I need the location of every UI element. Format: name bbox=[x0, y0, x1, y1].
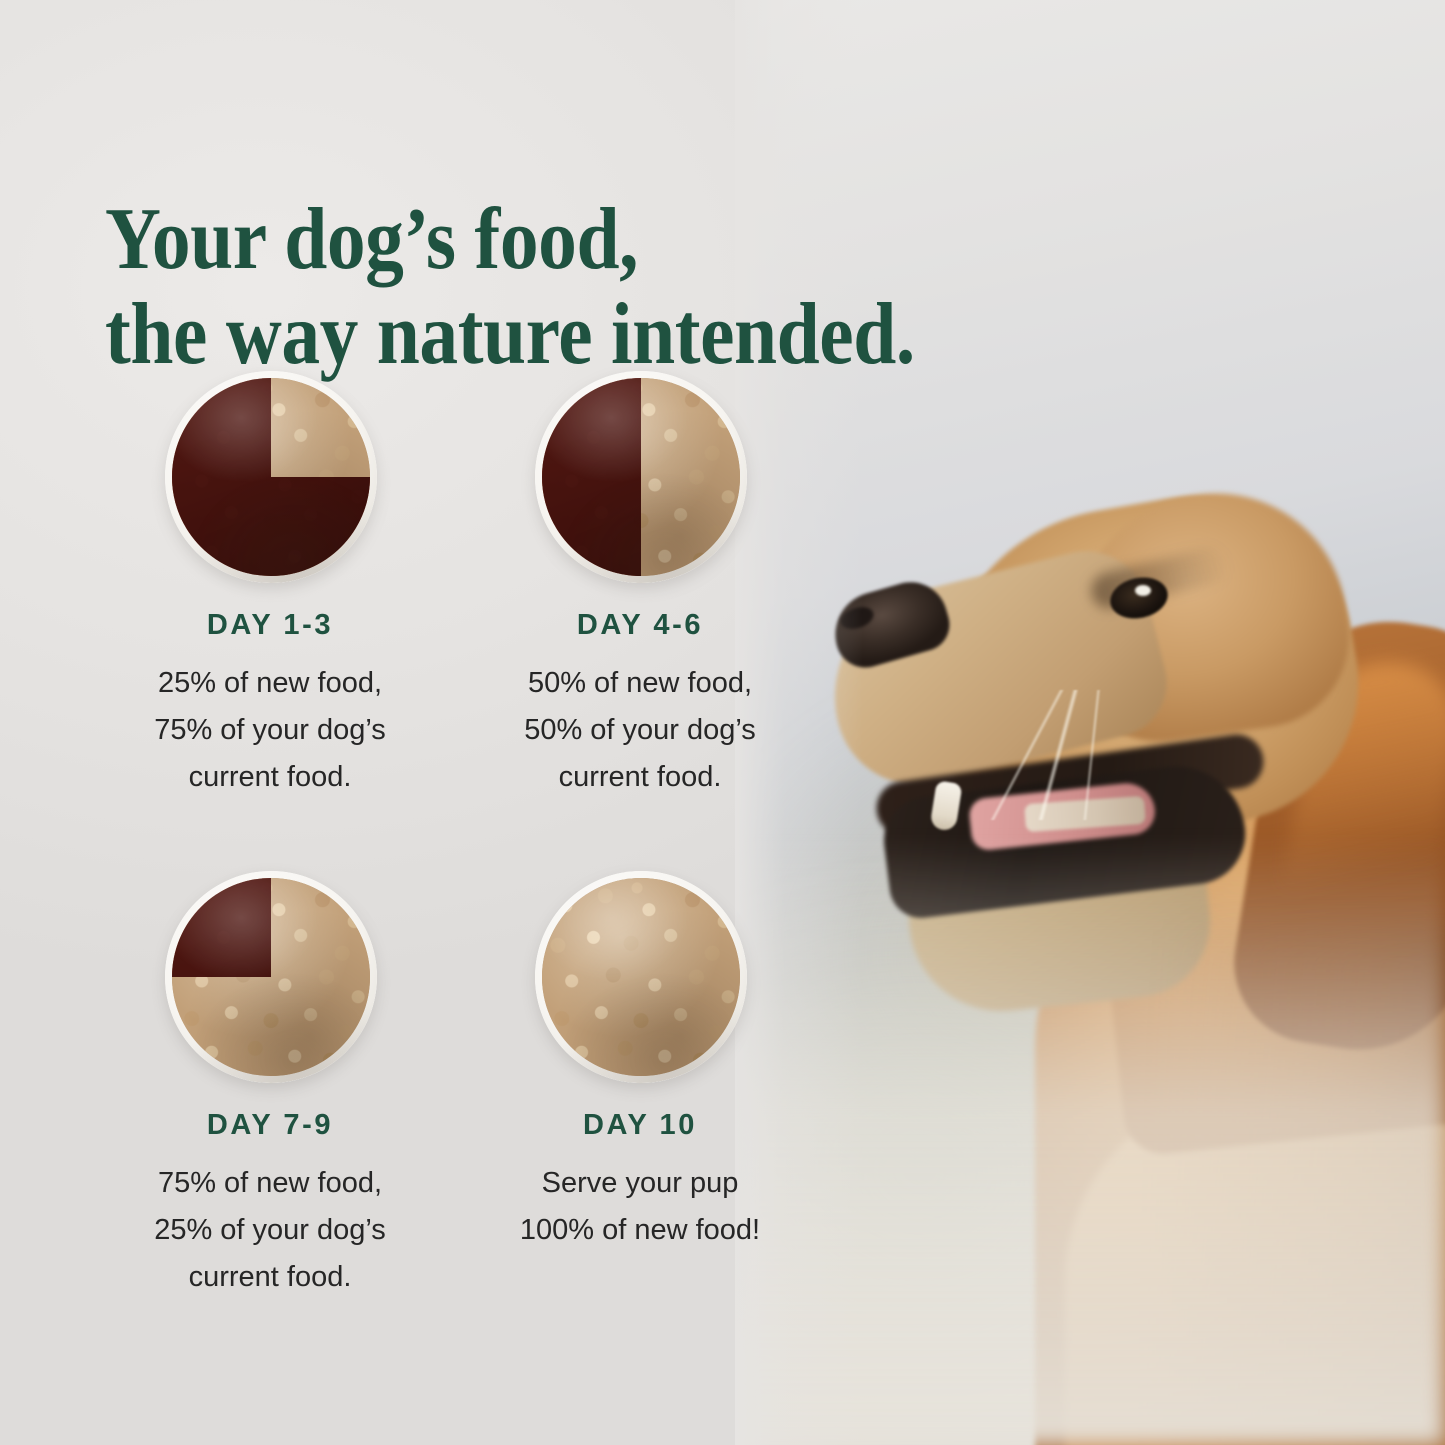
dog-whiskers bbox=[945, 690, 1175, 820]
desc-line-2c: current food. bbox=[455, 754, 825, 801]
bowl-wrap-3 bbox=[85, 865, 455, 1105]
day-description-2: 50% of new food, 50% of your dog’s curre… bbox=[455, 660, 825, 801]
day-label-3: DAY 7-9 bbox=[85, 1109, 455, 1142]
day-description-1: 25% of new food, 75% of your dog’s curre… bbox=[85, 660, 455, 801]
bowl-inner-4 bbox=[542, 878, 740, 1076]
desc-line-3b: 25% of your dog’s bbox=[85, 1207, 455, 1254]
desc-line-4a: Serve your pup bbox=[455, 1160, 825, 1207]
bowl-wrap-2 bbox=[455, 365, 825, 605]
desc-line-3c: current food. bbox=[85, 1254, 455, 1301]
foreground-haze bbox=[735, 838, 1445, 1445]
day-label-2: DAY 4-6 bbox=[455, 609, 825, 642]
desc-line-2b: 50% of your dog’s bbox=[455, 707, 825, 754]
desc-line-4b: 100% of new food! bbox=[455, 1207, 825, 1254]
day-description-3: 75% of new food, 25% of your dog’s curre… bbox=[85, 1160, 455, 1301]
bowl-inner-3 bbox=[172, 878, 370, 1076]
desc-line-1b: 75% of your dog’s bbox=[85, 707, 455, 754]
transition-schedule-grid: DAY 1-3 25% of new food, 75% of your dog… bbox=[0, 0, 830, 1445]
schedule-step-3: DAY 7-9 75% of new food, 25% of your dog… bbox=[85, 865, 455, 1301]
schedule-step-1: DAY 1-3 25% of new food, 75% of your dog… bbox=[85, 365, 455, 801]
desc-line-1a: 25% of new food, bbox=[85, 660, 455, 707]
desc-line-2a: 50% of new food, bbox=[455, 660, 825, 707]
bowl-inner-1 bbox=[172, 378, 370, 576]
new-food-kibble-4 bbox=[542, 878, 740, 1076]
schedule-step-2: DAY 4-6 50% of new food, 50% of your dog… bbox=[455, 365, 825, 801]
dog-bowl-icon-3 bbox=[165, 871, 377, 1083]
day-label-1: DAY 1-3 bbox=[85, 609, 455, 642]
dog-eye-catchlight bbox=[1135, 585, 1151, 596]
bowl-wrap-1 bbox=[85, 365, 455, 605]
day-description-4: Serve your pup 100% of new food! bbox=[455, 1160, 825, 1254]
infographic-canvas: Your dog’s food, the way nature intended… bbox=[0, 0, 1445, 1445]
dog-bowl-icon-2 bbox=[535, 371, 747, 583]
dog-bowl-icon-4 bbox=[535, 871, 747, 1083]
bowl-inner-2 bbox=[542, 378, 740, 576]
day-label-4: DAY 10 bbox=[455, 1109, 825, 1142]
desc-line-1c: current food. bbox=[85, 754, 455, 801]
dog-bowl-icon-1 bbox=[165, 371, 377, 583]
desc-line-3a: 75% of new food, bbox=[85, 1160, 455, 1207]
bowl-wrap-4 bbox=[455, 865, 825, 1105]
schedule-step-4: DAY 10 Serve your pup 100% of new food! bbox=[455, 865, 825, 1254]
